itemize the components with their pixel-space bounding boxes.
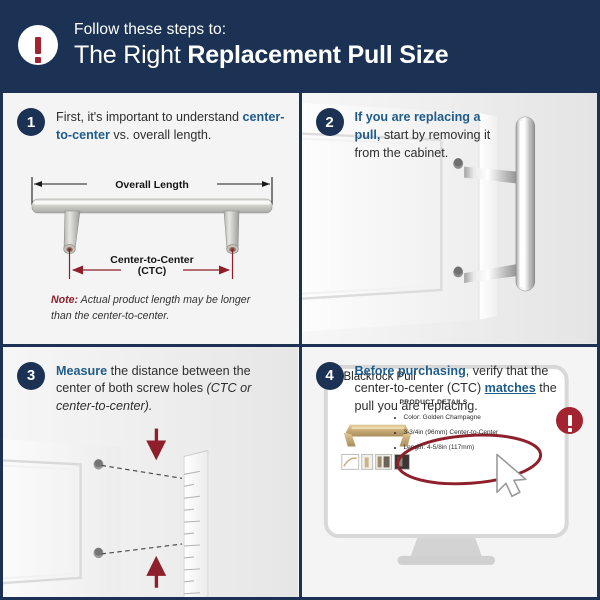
header-text-block: Follow these steps to: The Right Replace… (74, 21, 449, 69)
step-3-header: 3 Measure the distance between the cente… (17, 363, 289, 417)
note-label: Note: (51, 294, 78, 306)
step-4-header: 4 Before purchasing, verify that the cen… (316, 363, 588, 417)
note-text: Actual product length may be longer than… (51, 294, 250, 322)
page-title-bold: Replacement Pull Size (187, 41, 448, 69)
step-4-text: Before purchasing, verify that the cente… (355, 363, 571, 417)
step-1-header: 1 First, it's important to understand ce… (17, 109, 289, 145)
ctc-label-line2: (CTC) (138, 265, 167, 277)
pull-post-right (224, 211, 239, 254)
step-1-note: Note: Actual product length may be longe… (51, 293, 261, 325)
page-title: The Right Replacement Pull Size (74, 41, 449, 69)
bar-pull-diagram: Overall Length (25, 171, 279, 281)
matches-link[interactable]: matches (485, 381, 536, 395)
ruler (184, 450, 208, 597)
exclamation-icon (18, 25, 58, 65)
mouse-cursor-icon (496, 454, 525, 496)
overall-length-label: Overall Length (115, 179, 189, 191)
steps-grid: 1 First, it's important to understand ce… (0, 90, 600, 600)
header-banner: Follow these steps to: The Right Replace… (0, 0, 600, 90)
step-panel-4: 4 Before purchasing, verify that the cen… (302, 347, 598, 598)
step-panel-1: 1 First, it's important to understand ce… (3, 93, 299, 344)
step-panel-2: 2 If you are replacing a pull, start by … (302, 93, 598, 344)
step-4-number: 4 (316, 362, 344, 390)
product-image-pull (343, 424, 411, 446)
step-1-number: 1 (17, 108, 45, 136)
step-3-number: 3 (17, 362, 45, 390)
step-2-header: 2 If you are replacing a pull, start by … (316, 109, 588, 163)
step-3-text: Measure the distance between the center … (56, 363, 252, 417)
step-4-text-bold: Before purchasing (355, 364, 466, 378)
page-title-light: The Right (74, 41, 187, 69)
step-panel-3: 3 Measure the distance between the cente… (3, 347, 299, 598)
infographic-root: Follow these steps to: The Right Replace… (0, 0, 600, 600)
header-kicker: Follow these steps to: (74, 21, 449, 38)
step-1-text-tail: vs. overall length. (110, 128, 212, 142)
step-3-text-bold: Measure (56, 364, 107, 378)
step-1-text-lead: First, it's important to understand (56, 110, 243, 124)
step-2-number: 2 (316, 108, 344, 136)
step-2-text: If you are replacing a pull, start by re… (355, 109, 505, 163)
step-1-text: First, it's important to understand cent… (56, 109, 289, 145)
pull-post-left (64, 211, 80, 254)
